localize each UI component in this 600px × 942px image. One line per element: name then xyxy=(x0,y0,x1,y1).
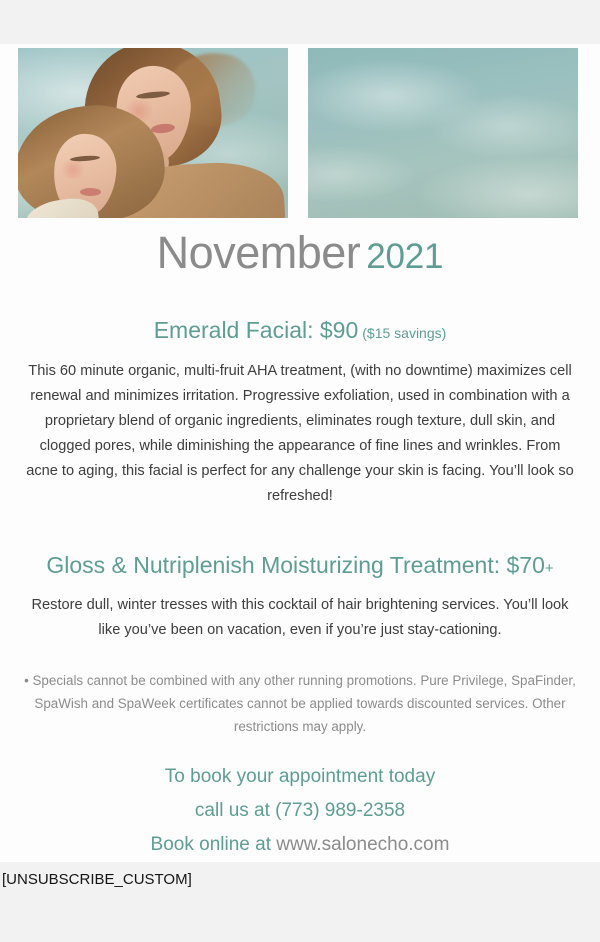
cta-website-prefix: Book online at xyxy=(151,834,277,855)
offer-title-gloss-nutriplenish: Gloss & Nutriplenish Moisturizing Treatm… xyxy=(0,552,600,578)
cta-line-website[interactable]: Book online at www.salonecho.com xyxy=(0,828,600,862)
cta-line-book-appointment: To book your appointment today xyxy=(0,760,600,794)
offer-savings-badge: ($15 savings) xyxy=(362,325,446,341)
hero-image-row xyxy=(0,48,600,218)
title-month: November xyxy=(157,227,361,278)
model-two-lips xyxy=(80,188,101,196)
hero-image-sky xyxy=(308,48,578,218)
email-content: November2021 Emerald Facial: $90($15 sav… xyxy=(0,230,600,862)
fineprint-disclaimer: • Specials cannot be combined with any o… xyxy=(0,669,600,738)
title-year: 2021 xyxy=(366,237,443,276)
offer-title-emerald-facial: Emerald Facial: $90($15 savings) xyxy=(0,317,600,343)
email-preview-page: November2021 Emerald Facial: $90($15 sav… xyxy=(0,0,600,942)
offer-price-plus: + xyxy=(545,560,554,577)
hero-image-models xyxy=(18,48,288,218)
offer-title-text: Gloss & Nutriplenish Moisturizing Treatm… xyxy=(46,552,545,578)
model-two-cheek xyxy=(58,160,88,179)
offer-title-text: Emerald Facial: $90 xyxy=(154,317,359,343)
offer-body-gloss-nutriplenish: Restore dull, winter tresses with this c… xyxy=(0,593,600,643)
sky-gradient xyxy=(308,48,578,218)
offer-body-emerald-facial: This 60 minute organic, multi-fruit AHA … xyxy=(0,359,600,509)
page-title: November2021 xyxy=(0,230,600,275)
unsubscribe-link[interactable]: [UNSUBSCRIBE_CUSTOM] xyxy=(2,870,192,890)
cta-website-url[interactable]: www.salonecho.com xyxy=(276,834,449,855)
cta-line-phone: call us at (773) 989-2358 xyxy=(0,794,600,828)
email-card: November2021 Emerald Facial: $90($15 sav… xyxy=(0,44,600,862)
